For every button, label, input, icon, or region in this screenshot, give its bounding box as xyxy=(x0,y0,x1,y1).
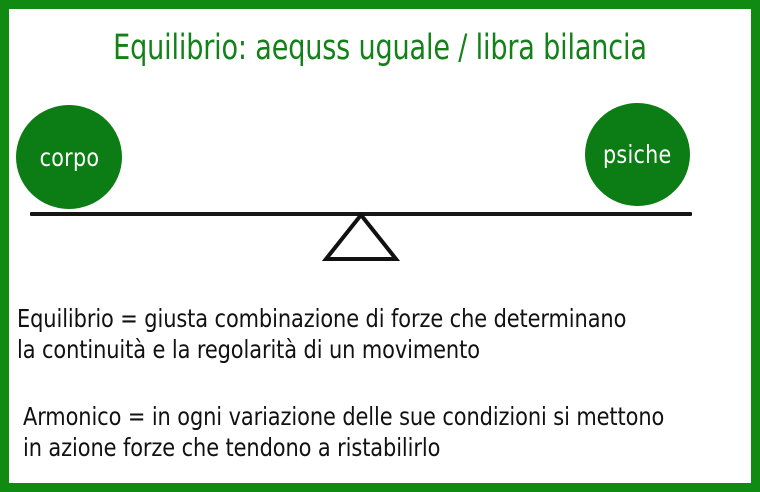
scale-pan-right: psiche xyxy=(585,103,690,206)
definition-equilibrio-line-2: la continuità e la regolarità di un movi… xyxy=(17,334,752,365)
definition-armonico-line-2: in azione forze che tendono a ristabilir… xyxy=(23,432,758,463)
scale-pan-right-label: psiche xyxy=(603,142,672,167)
definition-equilibrio-line-1: Equilibrio = giusta combinazione di forz… xyxy=(17,303,752,334)
scale-pan-left-label: corpo xyxy=(39,145,99,170)
definition-armonico: Armonico = in ogni variazione delle sue … xyxy=(23,401,758,463)
balance-scale-diagram: corpo psiche xyxy=(0,0,760,280)
scale-fulcrum-triangle-icon xyxy=(322,212,400,264)
scale-pan-left: corpo xyxy=(16,105,122,209)
definition-equilibrio: Equilibrio = giusta combinazione di forz… xyxy=(17,303,752,365)
slide-canvas: Equilibrio: aequss uguale / libra bilanc… xyxy=(0,0,760,492)
definition-armonico-line-1: Armonico = in ogni variazione delle sue … xyxy=(23,401,758,432)
